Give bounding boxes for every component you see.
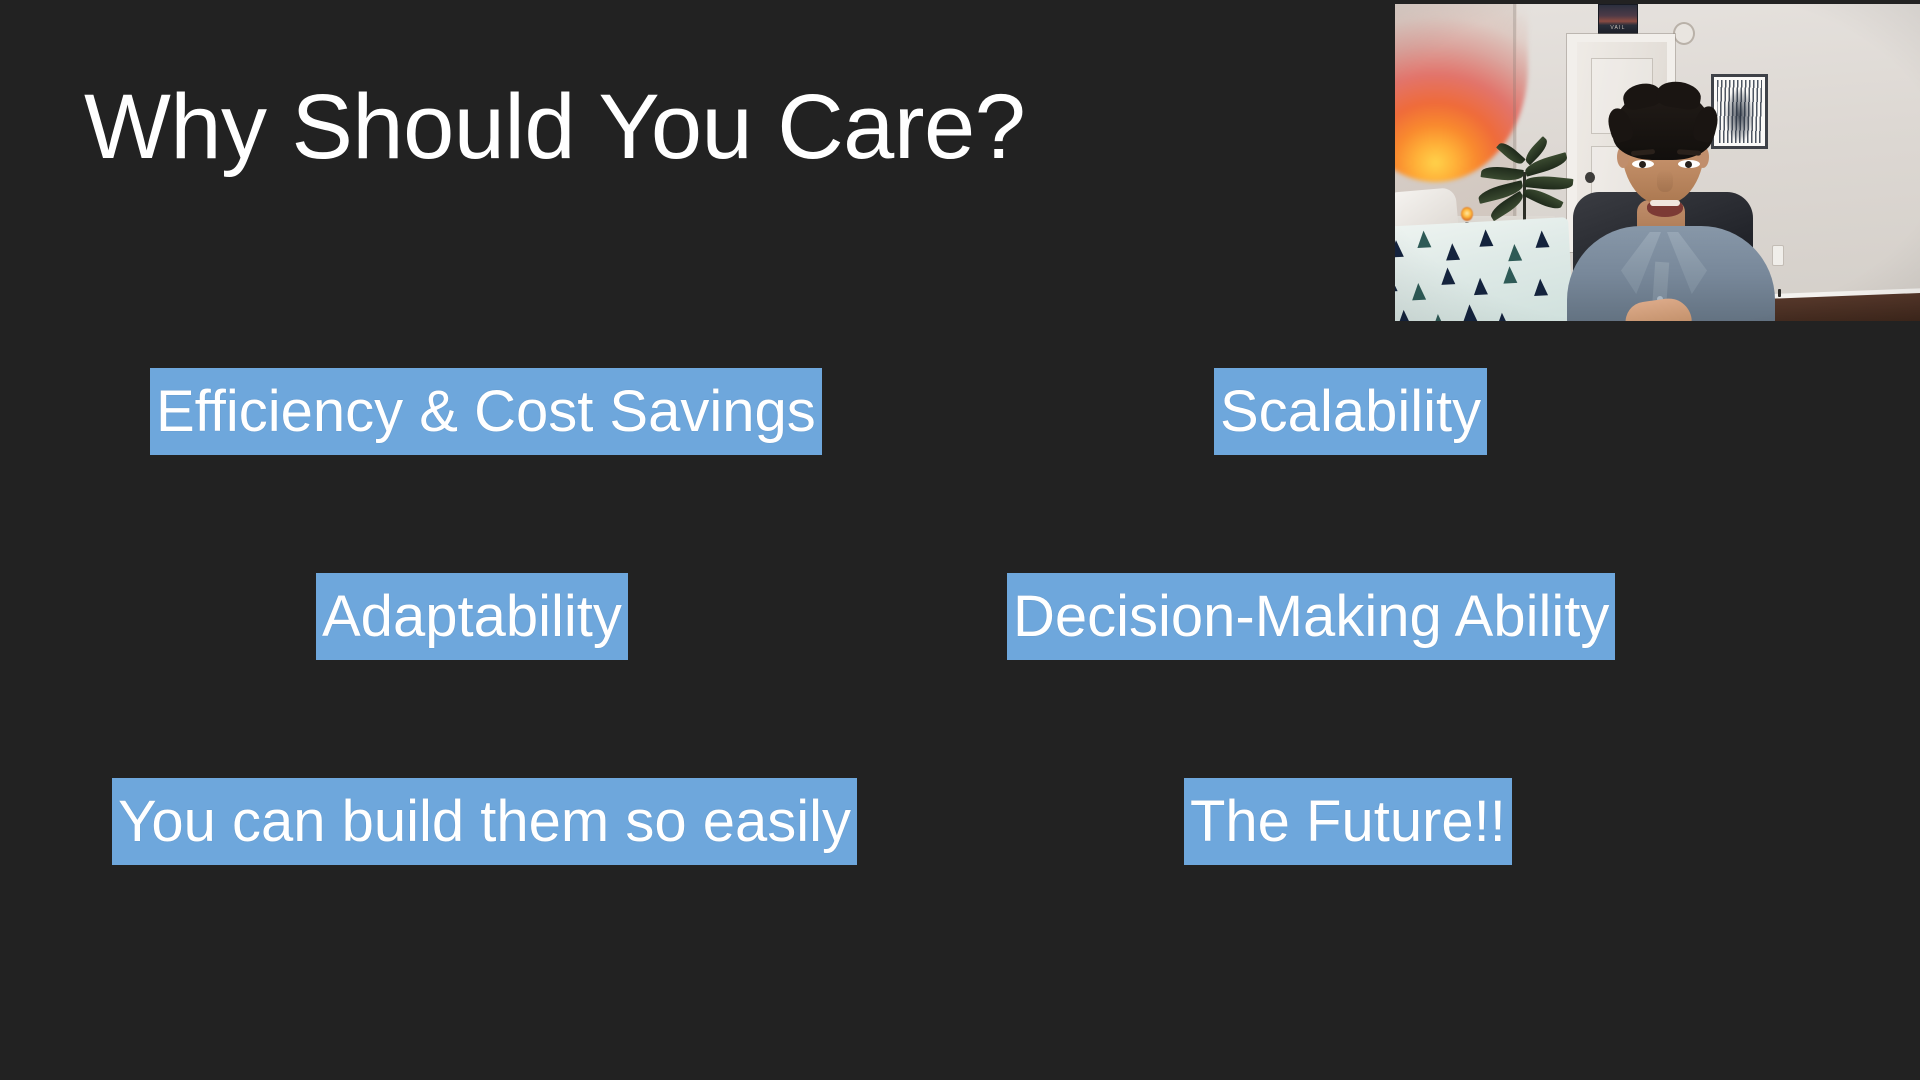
vail-poster-label: VAIL [1599, 25, 1637, 31]
webcam-video-frame: VAIL [1395, 4, 1920, 321]
vail-poster: VAIL [1598, 4, 1638, 34]
wall-outlet [1773, 246, 1783, 265]
bullet-adaptability: Adaptability [316, 573, 628, 660]
door-knob [1585, 172, 1595, 183]
bullet-decision-making-ability: Decision-Making Ability [1007, 573, 1615, 660]
presenter-pupil-right [1685, 161, 1692, 168]
bullet-efficiency-cost-savings: Efficiency & Cost Savings [150, 368, 822, 455]
floor-mark [1778, 289, 1781, 297]
presenter-nose [1657, 170, 1673, 192]
page-title: Why Should You Care? [84, 78, 1025, 177]
framed-wall-art [1711, 74, 1768, 149]
bullet-the-future: The Future!! [1184, 778, 1512, 865]
bullet-scalability: Scalability [1214, 368, 1487, 455]
presenter-teeth [1650, 200, 1680, 206]
wall-clock-icon [1673, 22, 1695, 45]
framed-wall-art-image [1717, 80, 1762, 143]
presentation-slide: Why Should You Care? Efficiency & Cost S… [0, 0, 1920, 1080]
table-lamp-glow [1461, 207, 1473, 221]
presenter-webcam-overlay[interactable]: VAIL [1395, 4, 1920, 321]
presenter-eye-right [1678, 160, 1700, 168]
presenter-pupil-left [1639, 161, 1646, 168]
presenter-eye-left [1632, 160, 1654, 168]
bullet-you-can-build-them-so-easily: You can build them so easily [112, 778, 857, 865]
bed-comforter [1395, 217, 1574, 321]
